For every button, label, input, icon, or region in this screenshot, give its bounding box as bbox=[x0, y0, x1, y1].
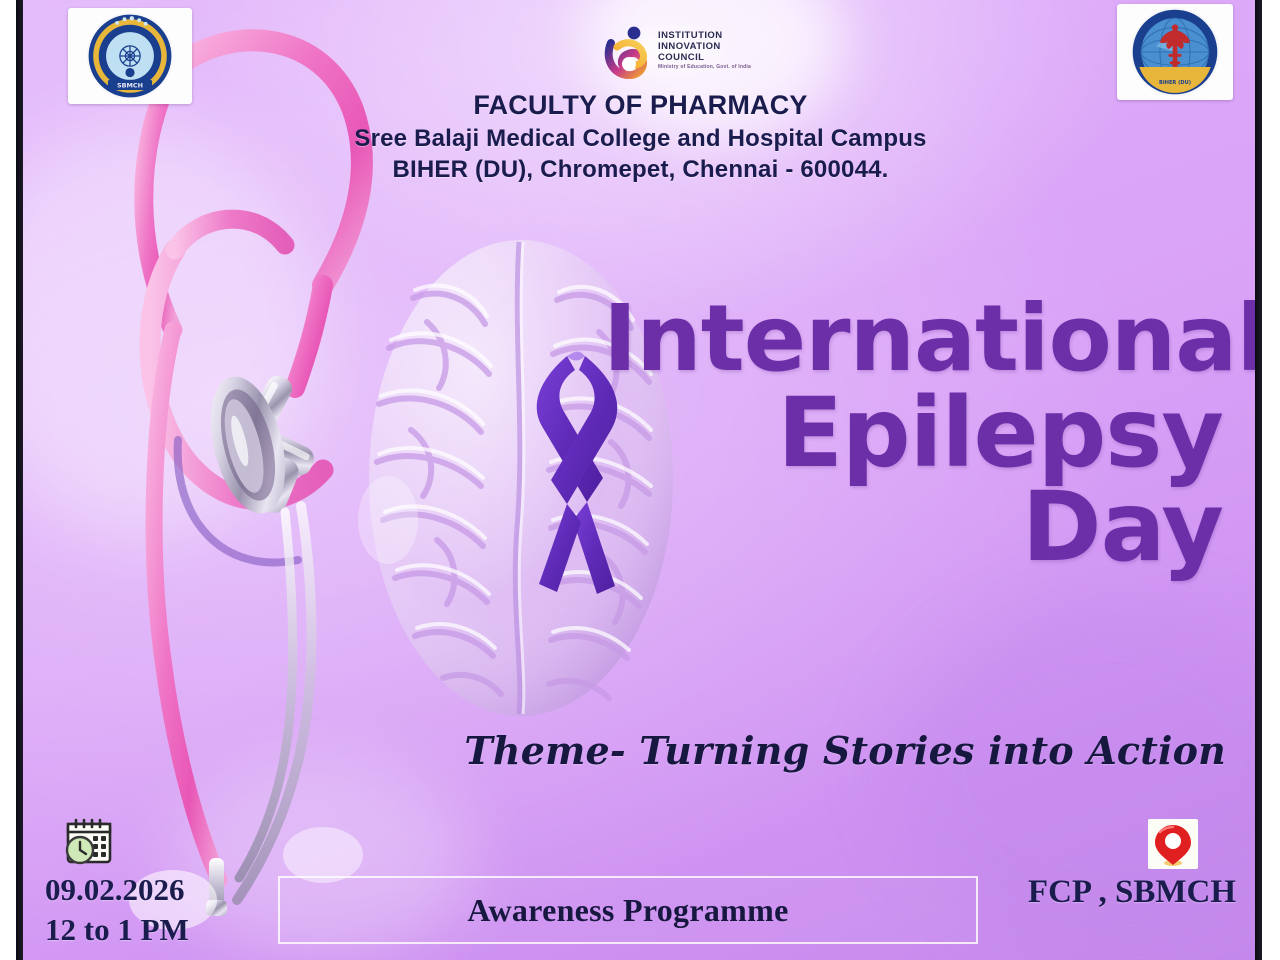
venue-block: FCP , SBMCH bbox=[1028, 818, 1236, 911]
faculty-of-pharmacy-emblem-graphic: SBMCH bbox=[84, 10, 176, 102]
venue-label: FCP , SBMCH bbox=[1028, 874, 1236, 911]
svg-text:BIHER (DU): BIHER (DU) bbox=[1159, 80, 1191, 86]
header-block: FACULTY OF PHARMACY Sree Balaji Medical … bbox=[23, 90, 1258, 184]
date-time-block: 09.02.2026 12 to 1 PM bbox=[45, 818, 189, 949]
location-pin-icon bbox=[1146, 818, 1200, 870]
sbmch-emblem-graphic: BIHER (DU) bbox=[1128, 5, 1222, 99]
poster-left-border bbox=[16, 0, 23, 960]
page-title: International Epilepsy Day bbox=[603, 295, 1223, 574]
title-line-international: International bbox=[603, 295, 1223, 383]
calendar-clock-icon bbox=[63, 818, 115, 868]
institution-innovation-council-logo: INSTITUTION INNOVATION COUNCIL Ministry … bbox=[603, 16, 743, 86]
sbmch-emblem: BIHER (DU) bbox=[1117, 4, 1233, 100]
programme-label: Awareness Programme bbox=[467, 892, 788, 929]
iic-logo-text: INSTITUTION INNOVATION COUNCIL Ministry … bbox=[658, 31, 751, 70]
header-address-line: BIHER (DU), Chromepet, Chennai - 600044. bbox=[23, 156, 1258, 184]
header-campus-line: Sree Balaji Medical College and Hospital… bbox=[23, 125, 1258, 153]
programme-box: Awareness Programme bbox=[278, 876, 978, 944]
iic-line-3: COUNCIL bbox=[658, 53, 751, 64]
title-line-epilepsy: Epilepsy bbox=[603, 387, 1223, 479]
poster-right-border bbox=[1255, 0, 1262, 960]
event-date: 09.02.2026 bbox=[45, 870, 189, 910]
header-faculty-line: FACULTY OF PHARMACY bbox=[23, 90, 1258, 121]
poster-canvas: SBMCH bbox=[23, 0, 1258, 960]
iic-subtitle: Ministry of Education, Govt. of India bbox=[658, 65, 751, 71]
theme-text: Theme- Turning Stories into Action bbox=[464, 728, 1226, 773]
poster-root: SBMCH bbox=[0, 0, 1280, 960]
svg-text:SBMCH: SBMCH bbox=[117, 82, 143, 90]
iic-mark-icon bbox=[603, 23, 653, 79]
iic-line-2: INNOVATION bbox=[658, 42, 751, 53]
event-time: 12 to 1 PM bbox=[45, 910, 189, 950]
title-line-day: Day bbox=[603, 481, 1223, 573]
